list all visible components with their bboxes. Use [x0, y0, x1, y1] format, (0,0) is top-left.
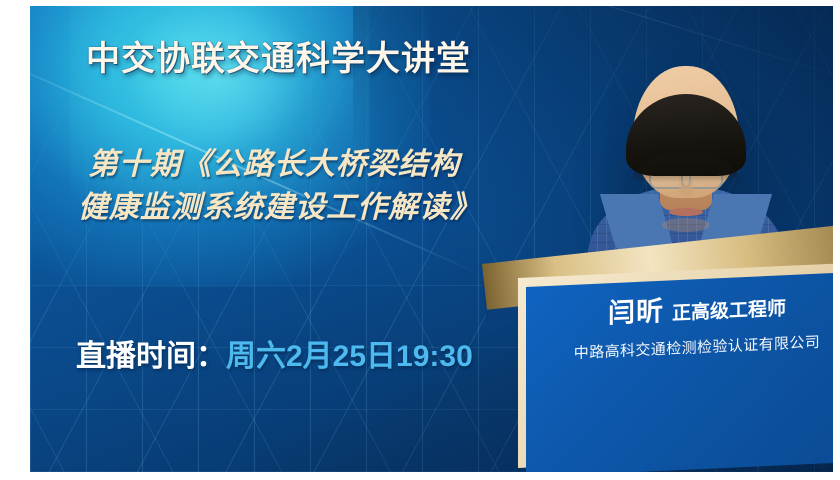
page-title: 中交协联交通科学大讲堂: [86, 31, 471, 80]
live-time-value: 周六2月25日19:30: [226, 340, 473, 373]
live-time-label: 直播时间：: [76, 340, 226, 373]
poster-root: 中交协联交通科学大讲堂 第十期《公路长大桥梁结构 健康监测系统建设工作解读》 直…: [0, 0, 840, 480]
portrait-mouth: [669, 208, 703, 216]
portrait-hair: [626, 94, 746, 176]
portrait-chin: [662, 218, 710, 232]
speaker-title: 正高级工程师: [672, 298, 786, 324]
episode-subtitle: 第十期《公路长大桥梁结构 健康监测系统建设工作解读》: [88, 144, 481, 229]
speaker-panel-content: 闫昕正高级工程师 中路高科交通检测检验认证有限公司: [532, 277, 833, 365]
episode-subtitle-line-1: 第十期《公路长大桥梁结构: [88, 148, 460, 181]
episode-subtitle-line-2: 健康监测系统建设工作解读》: [78, 187, 481, 230]
portrait-head: [633, 66, 739, 198]
speaker-panel: 闫昕正高级工程师 中路高科交通检测检验认证有限公司: [518, 278, 833, 472]
poster-stage: 中交协联交通科学大讲堂 第十期《公路长大桥梁结构 健康监测系统建设工作解读》 直…: [30, 6, 833, 472]
speaker-name: 闫昕: [608, 296, 664, 329]
right-edge-margin: [833, 0, 840, 480]
live-time: 直播时间：周六2月25日19:30: [76, 331, 473, 375]
